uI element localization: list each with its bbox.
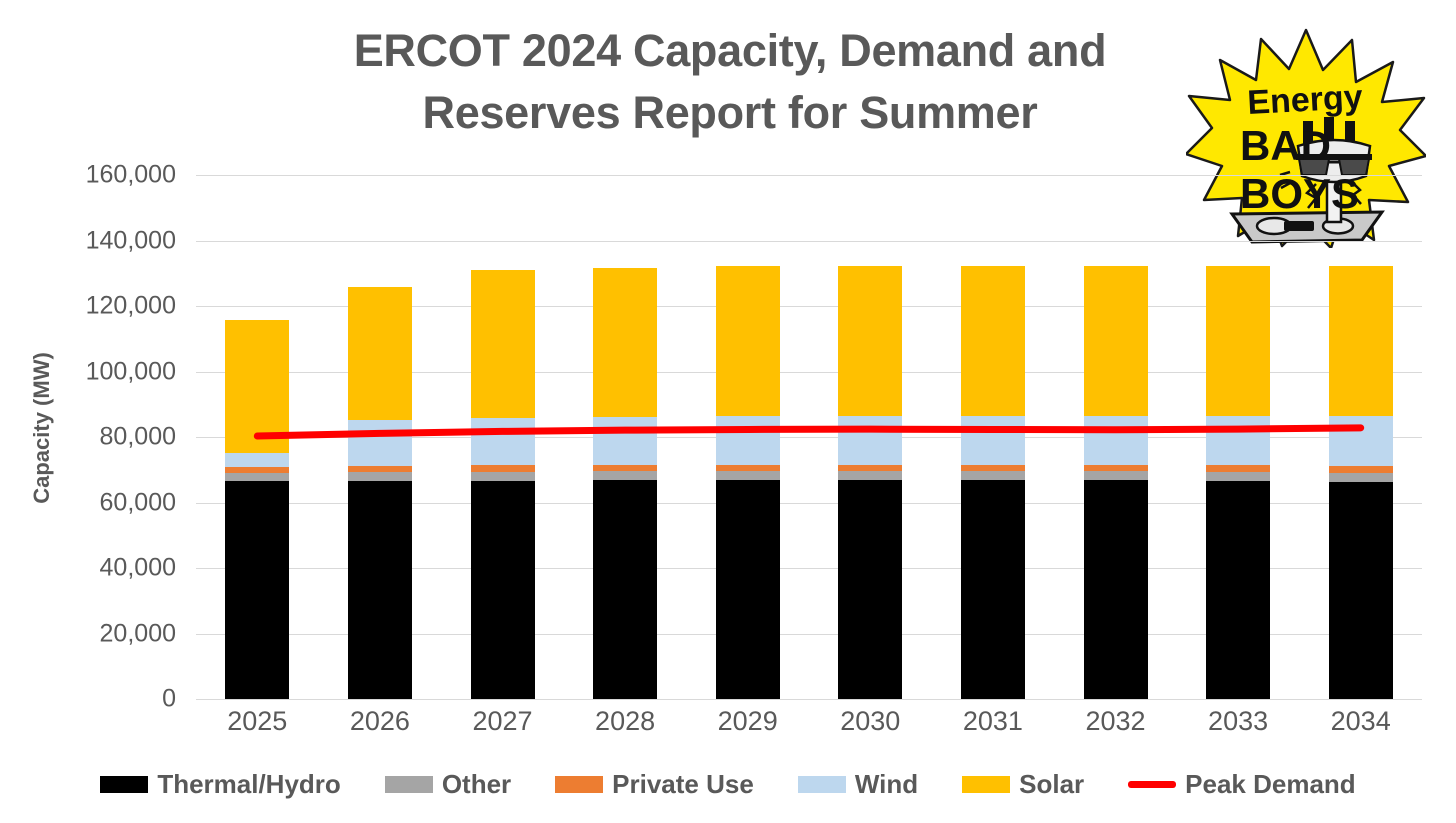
bar-segment-thermalhydro[interactable] — [593, 480, 657, 699]
legend-label: Private Use — [612, 769, 754, 800]
legend-swatch-icon — [1128, 781, 1176, 788]
bar-column-2031[interactable] — [961, 175, 1025, 699]
plot-area — [196, 175, 1422, 699]
bar-segment-thermalhydro[interactable] — [1084, 480, 1148, 699]
logo-text-bad: BAD — [1240, 122, 1331, 169]
bar-segment-other[interactable] — [593, 471, 657, 480]
bar-segment-wind[interactable] — [593, 417, 657, 465]
bar-segment-thermalhydro[interactable] — [716, 480, 780, 699]
bar-segment-solar[interactable] — [1084, 266, 1148, 416]
x-axis-tick-label: 2026 — [350, 706, 410, 737]
bar-column-2033[interactable] — [1206, 175, 1270, 699]
bar-segment-thermalhydro[interactable] — [961, 480, 1025, 699]
bar-segment-privateuse[interactable] — [471, 465, 535, 472]
bar-segment-solar[interactable] — [1329, 266, 1393, 416]
x-axis-tick-label: 2025 — [227, 706, 287, 737]
bar-segment-solar[interactable] — [471, 270, 535, 418]
chart-title: ERCOT 2024 Capacity, Demand and Reserves… — [210, 20, 1250, 144]
bar-column-2032[interactable] — [1084, 175, 1148, 699]
legend-item-wind[interactable]: Wind — [798, 769, 918, 800]
bar-segment-wind[interactable] — [1084, 416, 1148, 464]
bar-segment-other[interactable] — [225, 473, 289, 481]
x-axis-tick-label: 2031 — [963, 706, 1023, 737]
y-axis-tick-labels: 020,00040,00060,00080,000100,000120,0001… — [0, 175, 188, 699]
chart-legend: Thermal/HydroOtherPrivate UseWindSolarPe… — [0, 762, 1456, 806]
gridline — [196, 699, 1422, 700]
bar-segment-privateuse[interactable] — [961, 465, 1025, 472]
legend-label: Solar — [1019, 769, 1084, 800]
y-axis-tick-label: 80,000 — [100, 423, 176, 452]
y-axis-tick-label: 0 — [162, 685, 176, 714]
x-axis-tick-label: 2028 — [595, 706, 655, 737]
bar-segment-privateuse[interactable] — [1329, 466, 1393, 473]
y-axis-tick-label: 60,000 — [100, 488, 176, 517]
bar-segment-other[interactable] — [838, 471, 902, 480]
legend-swatch-icon — [962, 776, 1010, 793]
bar-segment-wind[interactable] — [961, 416, 1025, 464]
bar-segment-privateuse[interactable] — [1206, 465, 1270, 472]
bar-segment-wind[interactable] — [1329, 416, 1393, 465]
bar-column-2026[interactable] — [348, 175, 412, 699]
bar-segment-other[interactable] — [961, 471, 1025, 480]
bar-segment-privateuse[interactable] — [838, 465, 902, 472]
bar-segment-solar[interactable] — [838, 266, 902, 416]
bar-segment-thermalhydro[interactable] — [225, 481, 289, 699]
legend-item-peak-demand[interactable]: Peak Demand — [1128, 769, 1356, 800]
x-axis-tick-label: 2034 — [1331, 706, 1391, 737]
bar-segment-solar[interactable] — [593, 268, 657, 416]
bar-segment-wind[interactable] — [225, 453, 289, 467]
y-axis-tick-label: 100,000 — [86, 357, 176, 386]
bar-segment-thermalhydro[interactable] — [1329, 482, 1393, 699]
x-axis-tick-label: 2030 — [840, 706, 900, 737]
legend-item-other[interactable]: Other — [385, 769, 511, 800]
bar-column-2030[interactable] — [838, 175, 902, 699]
bar-segment-other[interactable] — [1206, 472, 1270, 481]
x-axis-tick-label: 2029 — [718, 706, 778, 737]
bar-segment-other[interactable] — [1329, 473, 1393, 482]
y-axis-tick-label: 140,000 — [86, 226, 176, 255]
bar-segment-wind[interactable] — [716, 416, 780, 464]
bar-column-2027[interactable] — [471, 175, 535, 699]
logo-text-energy: Energy — [1246, 78, 1363, 122]
chart-title-line-1: ERCOT 2024 Capacity, Demand and — [210, 20, 1250, 82]
y-axis-tick-label: 120,000 — [86, 292, 176, 321]
bar-segment-wind[interactable] — [838, 416, 902, 464]
chart-page: ERCOT 2024 Capacity, Demand and Reserves… — [0, 0, 1456, 823]
y-axis-tick-label: 20,000 — [100, 619, 176, 648]
bar-segment-thermalhydro[interactable] — [471, 481, 535, 699]
y-axis-tick-label: 40,000 — [100, 554, 176, 583]
legend-label: Wind — [855, 769, 918, 800]
bar-segment-solar[interactable] — [716, 266, 780, 416]
legend-swatch-icon — [798, 776, 846, 793]
bar-segment-solar[interactable] — [961, 266, 1025, 416]
legend-swatch-icon — [385, 776, 433, 793]
bar-segment-wind[interactable] — [348, 420, 412, 466]
bar-series-group — [196, 175, 1422, 699]
legend-swatch-icon — [100, 776, 148, 793]
legend-item-private-use[interactable]: Private Use — [555, 769, 754, 800]
legend-item-solar[interactable]: Solar — [962, 769, 1084, 800]
bar-column-2025[interactable] — [225, 175, 289, 699]
y-axis-tick-label: 160,000 — [86, 161, 176, 190]
x-axis-tick-label: 2033 — [1208, 706, 1268, 737]
bar-column-2029[interactable] — [716, 175, 780, 699]
bar-segment-privateuse[interactable] — [593, 465, 657, 472]
legend-label: Other — [442, 769, 511, 800]
bar-column-2034[interactable] — [1329, 175, 1393, 699]
bar-segment-other[interactable] — [348, 472, 412, 481]
bar-segment-wind[interactable] — [471, 418, 535, 465]
bar-segment-wind[interactable] — [1206, 416, 1270, 465]
bar-segment-other[interactable] — [1084, 471, 1148, 480]
bar-segment-thermalhydro[interactable] — [1206, 481, 1270, 699]
legend-label: Peak Demand — [1185, 769, 1356, 800]
bar-segment-privateuse[interactable] — [1084, 465, 1148, 472]
bar-segment-thermalhydro[interactable] — [348, 481, 412, 699]
bar-segment-privateuse[interactable] — [716, 465, 780, 472]
legend-label: Thermal/Hydro — [157, 769, 341, 800]
bar-segment-privateuse[interactable] — [225, 467, 289, 473]
bar-segment-thermalhydro[interactable] — [838, 480, 902, 699]
bar-column-2028[interactable] — [593, 175, 657, 699]
bar-segment-solar[interactable] — [225, 320, 289, 453]
x-axis-tick-label: 2032 — [1085, 706, 1145, 737]
x-axis-tick-labels: 2025202620272028202920302031203220332034 — [196, 706, 1422, 746]
bar-segment-solar[interactable] — [1206, 266, 1270, 416]
x-axis-tick-label: 2027 — [472, 706, 532, 737]
chart-title-line-2: Reserves Report for Summer — [210, 82, 1250, 144]
bar-segment-solar[interactable] — [348, 287, 412, 420]
legend-swatch-icon — [555, 776, 603, 793]
bar-segment-privateuse[interactable] — [348, 466, 412, 473]
legend-item-thermal-hydro[interactable]: Thermal/Hydro — [100, 769, 341, 800]
bar-segment-other[interactable] — [471, 472, 535, 481]
bar-segment-other[interactable] — [716, 471, 780, 480]
